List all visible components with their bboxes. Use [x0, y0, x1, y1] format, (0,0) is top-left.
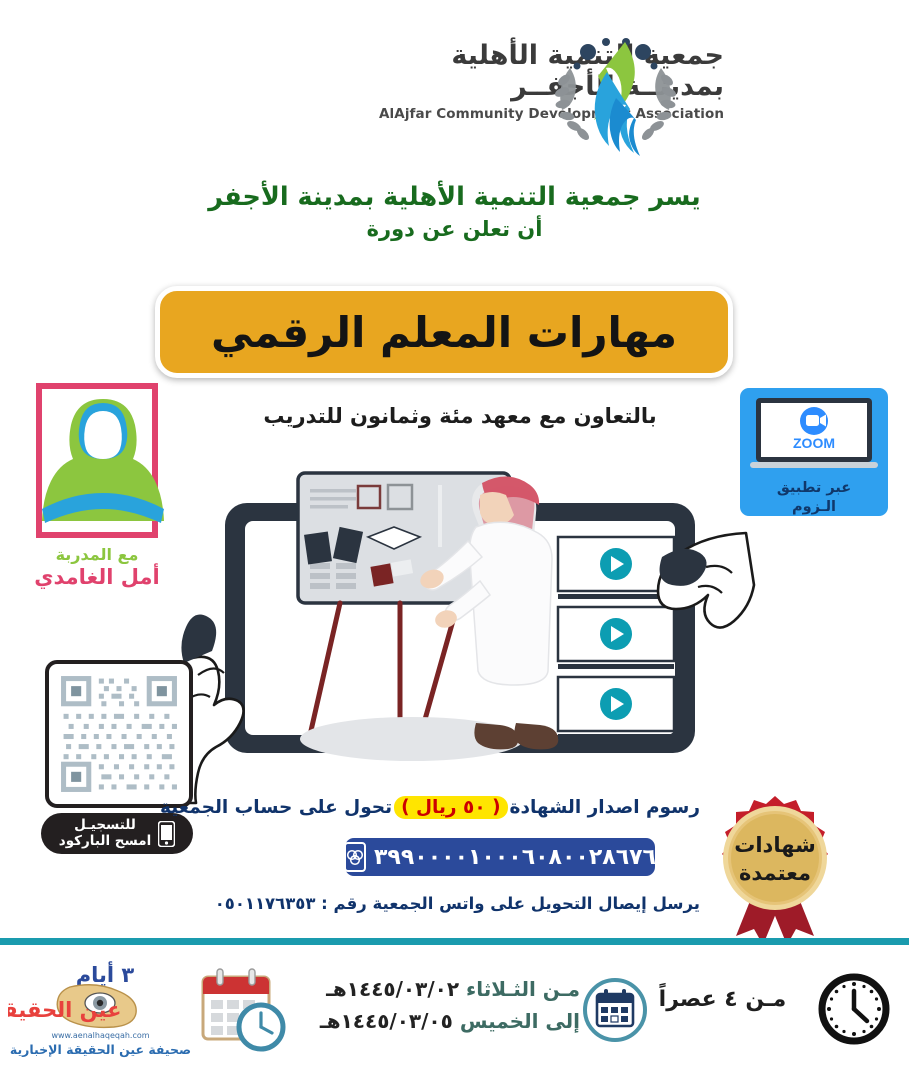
- qr-code[interactable]: [45, 660, 193, 808]
- svg-text:ZOOM: ZOOM: [793, 435, 835, 451]
- date-from-row: مـن الثـلاثاء ١٤٤٥/٠٣/٠٢هـ: [300, 973, 580, 1005]
- certified-seal-badge: شهادات معتمدة: [700, 792, 850, 942]
- fee-prefix: رسوم اصدار الشهادة: [510, 797, 700, 818]
- qr-registration-block[interactable]: للتسجيـل امسح الباركود: [33, 660, 193, 854]
- qr-label-line1: للتسجيـل: [59, 818, 151, 834]
- zoom-caption-line2: الـزوم: [748, 499, 880, 516]
- seal-line2: معتمدة: [739, 861, 811, 885]
- headline-block: يسر جمعية التنمية الأهلية بمدينة الأجفر …: [0, 180, 909, 246]
- zoom-caption-line1: عبر تطبيق: [748, 480, 880, 497]
- flame-wreath-logo-icon: [528, 28, 703, 168]
- clock-icon: [818, 973, 890, 1045]
- mobile-phone-icon: [158, 821, 175, 847]
- bank-account-box: ٣٩٩٠٠٠٠١٠٠٠٦٠٨٠٠٢٨٦٧٦: [345, 838, 655, 876]
- svg-text:عين الحقيقة: عين الحقيقة: [8, 998, 121, 1022]
- footer: ٣ أيام عين الحقيقة www.aenalhaqeqah.com …: [0, 955, 909, 1080]
- course-title: مهارات المعلم الرقمي: [211, 308, 677, 357]
- date-from-label: مـن الثـلاثاء: [466, 977, 580, 1001]
- partner-subtitle: بالتعاون مع معهد مئة وثمانون للتدريب: [230, 404, 690, 428]
- header: جمعية التنمية الأهلية بمدينــة الأجفــر …: [0, 18, 909, 168]
- eye-map-logo-icon: عين الحقيقة: [8, 983, 193, 1029]
- certificate-fee-line: رسوم اصدار الشهادة( ٥٠ ريال )تحول على حس…: [300, 796, 700, 819]
- date-to-value: ١٤٤٥/٠٣/٠٥هـ: [320, 1009, 453, 1033]
- time-text: مـن ٤ عصراً: [655, 987, 790, 1012]
- qr-instruction-pill: للتسجيـل امسح الباركود: [41, 813, 193, 854]
- fee-amount-badge: ( ٥٠ ريال ): [394, 796, 507, 819]
- newspaper-watermark: عين الحقيقة www.aenalhaqeqah.com صحيفة ع…: [8, 983, 193, 1057]
- bank-account-number: ٣٩٩٠٠٠٠١٠٠٠٦٠٨٠٠٢٨٦٧٦: [374, 845, 656, 870]
- seal-line1: شهادات: [734, 833, 815, 857]
- course-title-box: مهارات المعلم الرقمي: [155, 286, 733, 378]
- zoom-platform-badge: ZOOM عبر تطبيق الـزوم: [740, 388, 888, 516]
- qr-code-icon: [56, 671, 182, 797]
- whatsapp-receipt-note: يرسل إيصال التحويل على واتس الجمعية رقم …: [280, 894, 700, 913]
- fee-suffix: تحول على حساب الجمعية: [160, 797, 392, 818]
- newspaper-subtitle: صحيفة عين الحقيقة الإخبارية: [8, 1042, 193, 1057]
- footer-divider: [0, 938, 909, 945]
- date-to-label: إلى الخميس: [460, 1009, 580, 1033]
- zoom-laptop-icon: ZOOM: [748, 396, 880, 474]
- qr-label-line2: امسح الباركود: [59, 834, 151, 850]
- online-training-illustration: [150, 455, 760, 805]
- calendar-circle-icon: [582, 977, 648, 1043]
- date-from-value: ١٤٤٥/٠٣/٠٢هـ: [326, 977, 459, 1001]
- date-to-row: إلى الخميس ١٤٤٥/٠٣/٠٥هـ: [300, 1005, 580, 1037]
- al-rajhi-bank-icon: [344, 842, 366, 872]
- headline-line1: يسر جمعية التنمية الأهلية بمدينة الأجفر: [0, 180, 909, 214]
- dates-block: مـن الثـلاثاء ١٤٤٥/٠٣/٠٢هـ إلى الخميس ١٤…: [300, 973, 580, 1038]
- newspaper-url: www.aenalhaqeqah.com: [8, 1031, 193, 1040]
- headline-line2: أن تعلن عن دورة: [0, 214, 909, 246]
- trainer-photo-frame: [36, 383, 158, 538]
- calendar-clock-icon: [195, 967, 290, 1055]
